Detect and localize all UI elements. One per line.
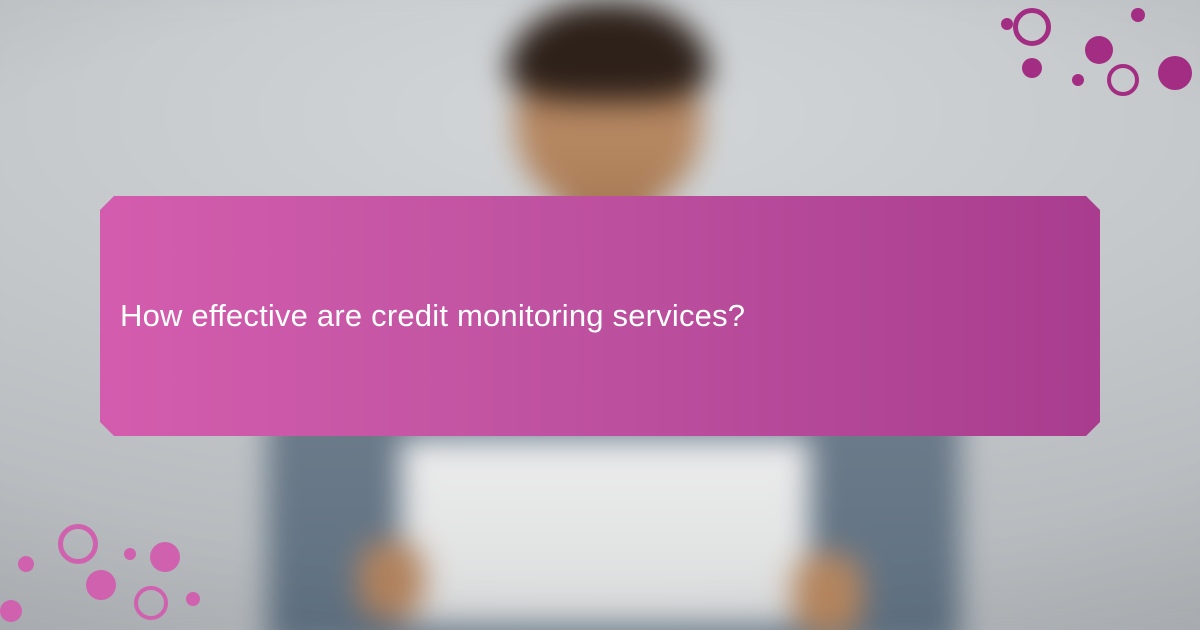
dot-micro xyxy=(186,592,200,606)
dot-large xyxy=(150,542,180,572)
decor-dots-bottom-left xyxy=(0,510,230,630)
page-title: How effective are credit monitoring serv… xyxy=(120,196,1080,436)
social-card: How effective are credit monitoring serv… xyxy=(0,0,1200,630)
dot-small xyxy=(1001,18,1013,30)
dot-ring-tiny xyxy=(1022,58,1042,78)
dot-small xyxy=(18,556,34,572)
dot-ring-small xyxy=(1107,64,1139,96)
dot-medium xyxy=(1085,36,1113,64)
dot-tiny xyxy=(1131,8,1145,22)
dot-large xyxy=(1158,56,1192,90)
dot-micro xyxy=(1072,74,1084,86)
dot-ring-large xyxy=(1013,8,1051,46)
dot-medium xyxy=(86,570,116,600)
decor-dots-top-right xyxy=(980,0,1200,120)
dot-edge xyxy=(0,600,22,622)
dot-ring-small xyxy=(134,586,168,620)
dot-ring-large xyxy=(58,524,98,564)
dot-tiny xyxy=(124,548,136,560)
